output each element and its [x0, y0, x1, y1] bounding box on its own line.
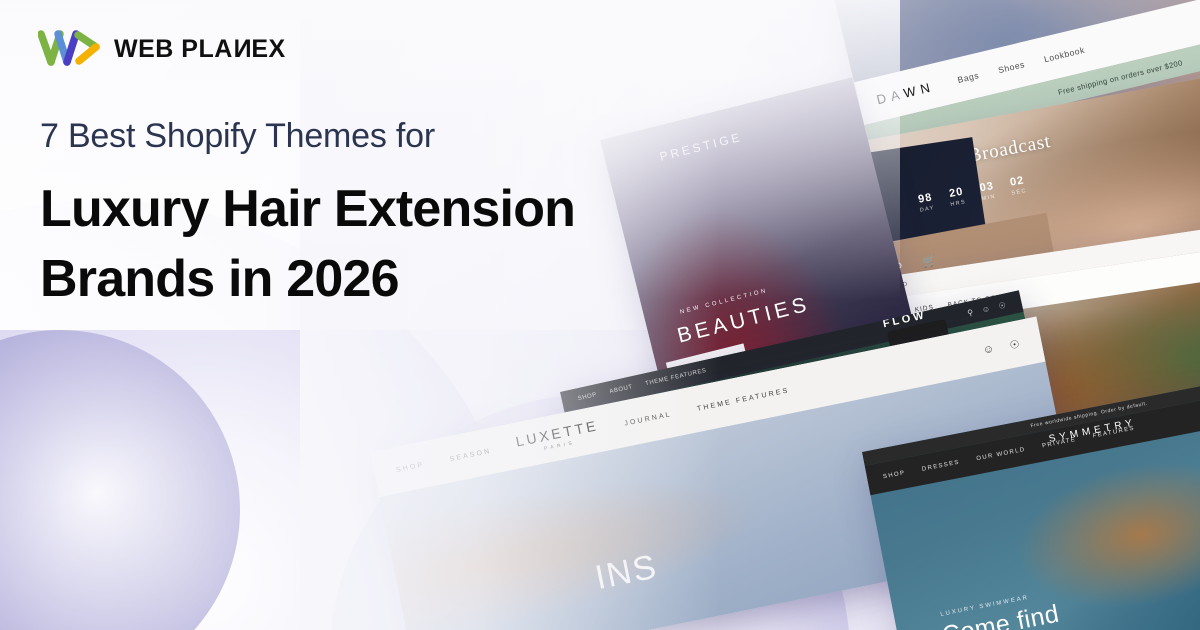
brand-logo[interactable]: WEB PLANEX	[38, 28, 286, 70]
hero-headline: Luxury Hair Extension Brands in 2026	[40, 175, 575, 314]
webplanex-chevron-logo-icon	[38, 28, 100, 70]
hero-headline-line1: Luxury Hair Extension	[40, 175, 575, 245]
brand-name-part1: WEB PLA	[114, 35, 233, 63]
foreground-content: WEB PLANEX 7 Best Shopify Themes for Lux…	[0, 0, 1200, 630]
brand-name-reversed-n: N	[233, 35, 252, 64]
brand-name-part2: EX	[251, 35, 285, 63]
hero-kicker: 7 Best Shopify Themes for	[40, 117, 435, 156]
brand-name: WEB PLANEX	[114, 35, 286, 64]
hero-headline-line2: Brands in 2026	[40, 245, 575, 315]
